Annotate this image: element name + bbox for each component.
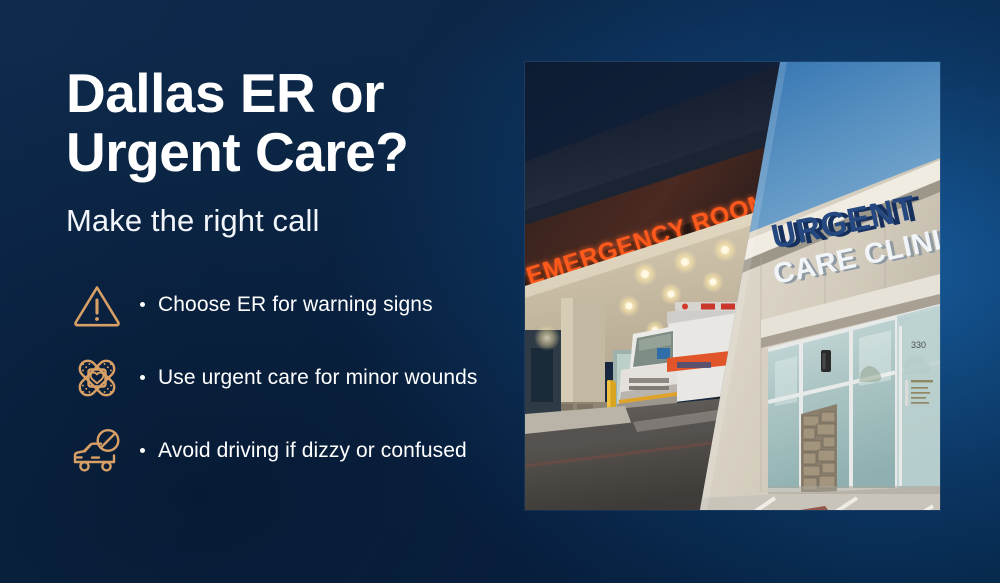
bullet-dot-icon xyxy=(140,375,145,380)
bullet-text-wrap: Choose ER for warning signs xyxy=(140,293,433,317)
content-column: Dallas ER or Urgent Care? Make the right… xyxy=(66,64,506,480)
address-number: 330 xyxy=(911,340,926,350)
list-item: Choose ER for warning signs xyxy=(66,276,506,334)
crossed-bandages-heart-icon xyxy=(66,349,128,407)
list-item-label: Choose ER for warning signs xyxy=(158,293,433,317)
list-item-label: Avoid driving if dizzy or confused xyxy=(158,439,467,463)
bullet-text-wrap: Avoid driving if dizzy or confused xyxy=(140,439,467,463)
list-item: Avoid driving if dizzy or confused xyxy=(66,422,506,480)
photo-illustration: EMERGENCY ROOM xyxy=(525,62,940,510)
bullet-list: Choose ER for warning signs xyxy=(66,276,506,480)
list-item-label: Use urgent care for minor wounds xyxy=(158,366,478,390)
no-driving-car-icon xyxy=(66,422,128,480)
bullet-text-wrap: Use urgent care for minor wounds xyxy=(140,366,478,390)
promo-poster: Dallas ER or Urgent Care? Make the right… xyxy=(0,0,1000,583)
list-item: Use urgent care for minor wounds xyxy=(66,349,506,407)
bullet-dot-icon xyxy=(140,448,145,453)
stone-veneer xyxy=(801,404,837,492)
page-title: Dallas ER or Urgent Care? xyxy=(66,64,506,183)
subheading: Make the right call xyxy=(66,203,506,239)
door-handle xyxy=(905,380,908,406)
hero-photo: EMERGENCY ROOM xyxy=(525,62,940,510)
clinic-entry-door: 330 xyxy=(897,305,940,492)
warning-triangle-icon xyxy=(66,276,128,334)
bullet-dot-icon xyxy=(140,302,145,307)
